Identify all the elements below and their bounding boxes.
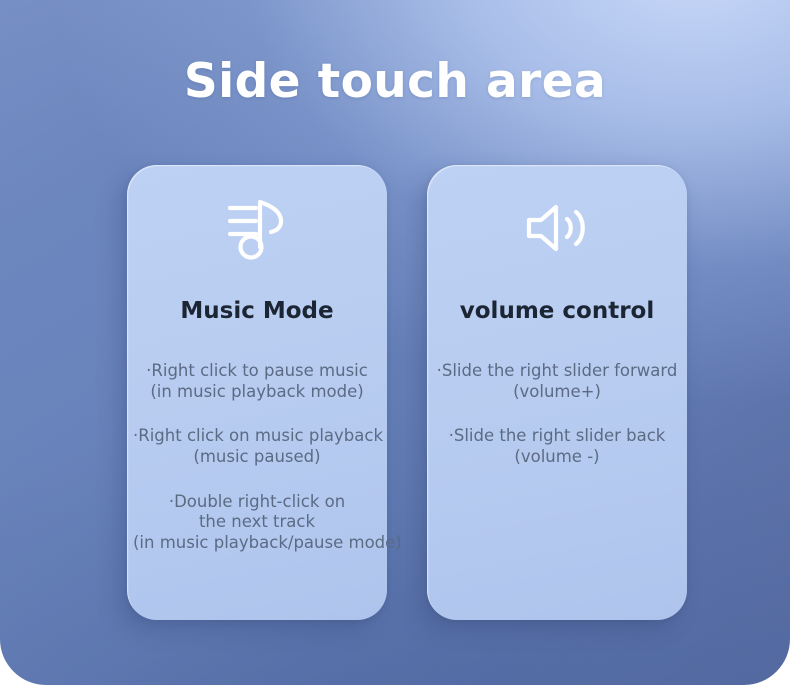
text-line: (volume+): [433, 382, 681, 403]
text-line: the next track: [133, 512, 381, 533]
card-title-volume-control: volume control: [427, 297, 687, 326]
card-volume-control[interactable]: volume control ·Slide the right slider f…: [427, 165, 687, 620]
list-item: ·Right click to pause music (in music pl…: [133, 361, 381, 402]
speaker-volume-icon: [427, 165, 687, 290]
text-line: ·Right click on music playback: [133, 426, 381, 447]
text-line: ·Slide the right slider forward: [433, 361, 681, 382]
card-body-music-mode: ·Right click to pause music (in music pl…: [127, 361, 387, 553]
list-item: ·Slide the right slider forward (volume+…: [433, 361, 681, 402]
text-line: (music paused): [133, 447, 381, 468]
page-title: Side touch area: [0, 55, 790, 109]
text-line: ·Slide the right slider back: [433, 426, 681, 447]
list-item: ·Double right-click on the next track (i…: [133, 492, 381, 554]
text-line: (volume -): [433, 447, 681, 468]
text-line: (in music playback/pause mode): [133, 533, 381, 554]
side-touch-area-screen: Side touch area Music Mode ·Right click …: [0, 0, 790, 685]
text-line: ·Right click to pause music: [133, 361, 381, 382]
list-item: ·Slide the right slider back (volume -): [433, 426, 681, 467]
card-body-volume-control: ·Slide the right slider forward (volume+…: [427, 361, 687, 468]
card-title-music-mode: Music Mode: [127, 297, 387, 326]
text-line: (in music playback mode): [133, 382, 381, 403]
text-line: ·Double right-click on: [133, 492, 381, 513]
card-music-mode[interactable]: Music Mode ·Right click to pause music (…: [127, 165, 387, 620]
music-note-playlist-icon: [127, 165, 387, 290]
list-item: ·Right click on music playback (music pa…: [133, 426, 381, 467]
